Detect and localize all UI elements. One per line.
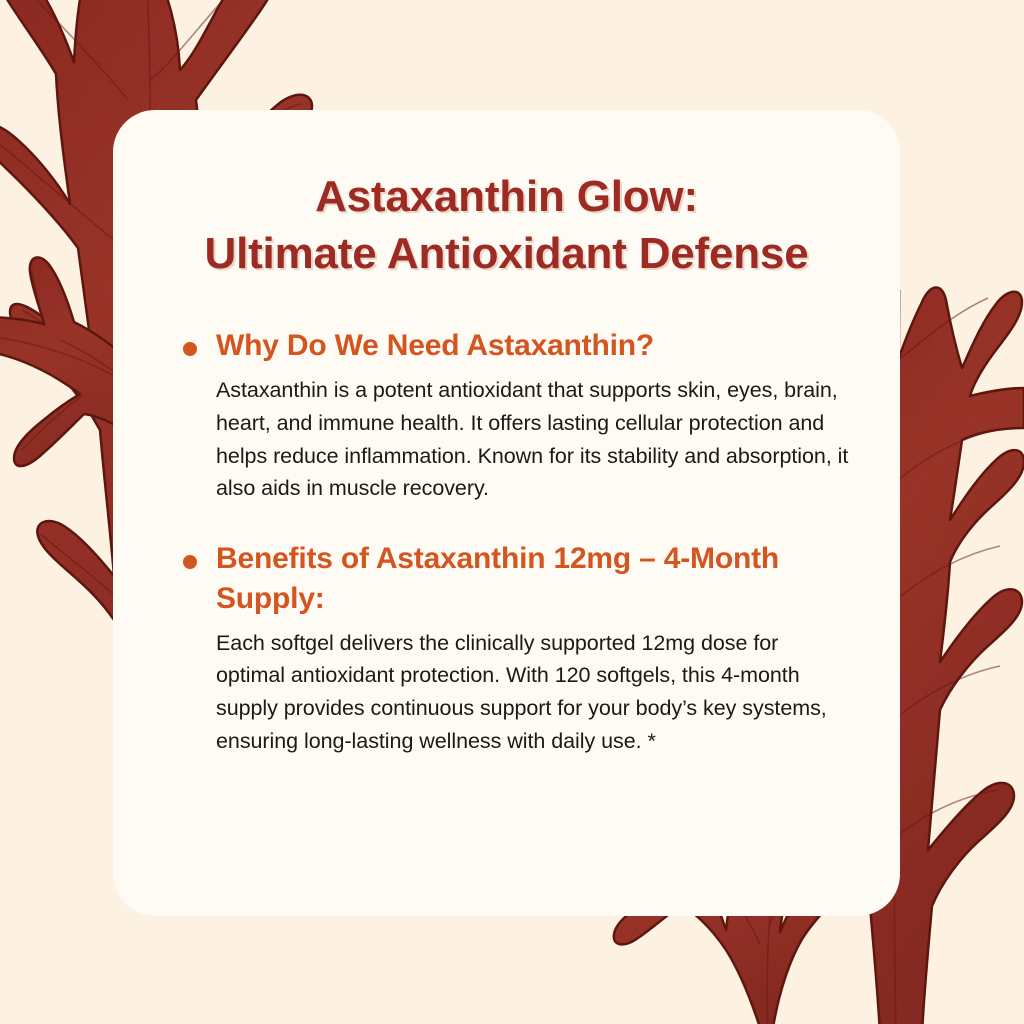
section-benefits-12mg: Benefits of Astaxanthin 12mg – 4-Month S… <box>183 539 852 757</box>
section-heading-row: Why Do We Need Astaxanthin? <box>183 326 852 366</box>
section-body: Each softgel delivers the clinically sup… <box>216 627 852 758</box>
bullet-dot-icon <box>183 342 197 356</box>
section-body: Astaxanthin is a potent antioxidant that… <box>216 374 852 505</box>
title-line-2: Ultimate Antioxidant Defense <box>153 225 860 282</box>
content-card: Astaxanthin Glow: Ultimate Antioxidant D… <box>113 110 900 916</box>
section-heading: Why Do We Need Astaxanthin? <box>216 326 654 366</box>
bullet-dot-icon <box>183 555 197 569</box>
section-heading-row: Benefits of Astaxanthin 12mg – 4-Month S… <box>183 539 852 619</box>
title-line-1: Astaxanthin Glow: <box>153 168 860 225</box>
page-title: Astaxanthin Glow: Ultimate Antioxidant D… <box>153 168 860 282</box>
section-heading: Benefits of Astaxanthin 12mg – 4-Month S… <box>216 539 852 619</box>
section-why-need-astaxanthin: Why Do We Need Astaxanthin? Astaxanthin … <box>183 326 852 505</box>
sections-list: Why Do We Need Astaxanthin? Astaxanthin … <box>153 326 860 757</box>
